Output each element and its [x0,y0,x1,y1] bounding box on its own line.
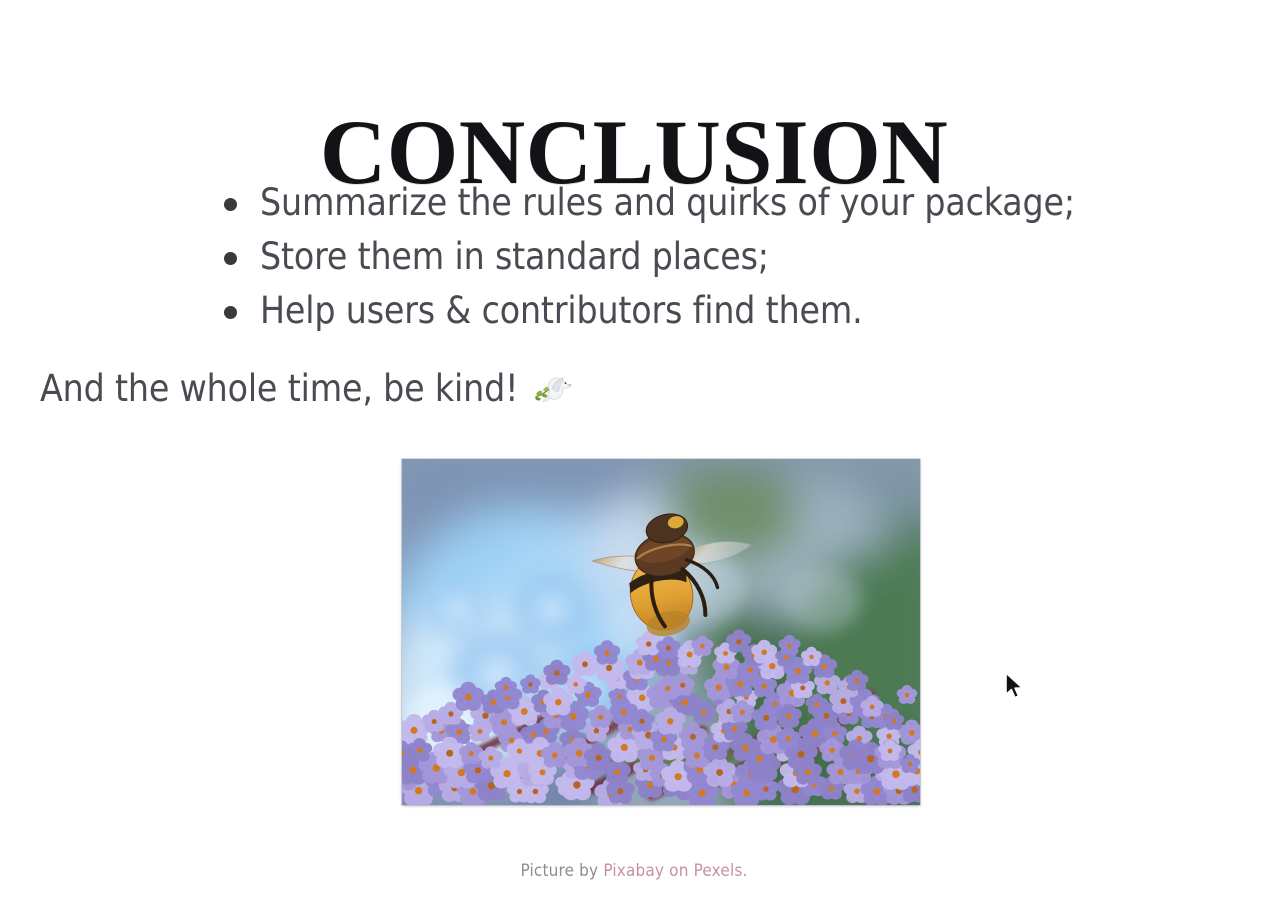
hoverfly-on-buddleia-photo [402,459,920,805]
list-item: Store them in standard places; [224,230,1224,284]
bullet-marker-icon [224,306,237,319]
caption-prefix: Picture by [520,861,603,881]
list-item-label: Help users & contributors find them. [260,284,1224,338]
closing-line: And the whole time, be kind! [40,362,574,416]
mouse-cursor-arrow-icon [1004,672,1026,702]
list-item: Summarize the rules and quirks of your p… [224,176,1224,230]
list-item-label: Store them in standard places; [260,230,1224,284]
bullet-marker-icon [224,252,237,265]
presentation-slide: CONCLUSION Summarize the rules and quirk… [0,0,1268,914]
closing-line-text: And the whole time, be kind! [40,362,518,416]
bullet-marker-icon [224,198,237,211]
list-item-label: Summarize the rules and quirks of your p… [260,176,1224,230]
bullet-list: Summarize the rules and quirks of your p… [224,176,1224,338]
dove-of-peace-icon [532,368,574,410]
slide-photo [402,459,920,805]
list-item: Help users & contributors find them. [224,284,1224,338]
caption-credit-link[interactable]: Pixabay on Pexels [603,861,742,881]
caption-suffix: . [743,861,748,881]
photo-caption: Picture by Pixabay on Pexels. [0,861,1268,881]
